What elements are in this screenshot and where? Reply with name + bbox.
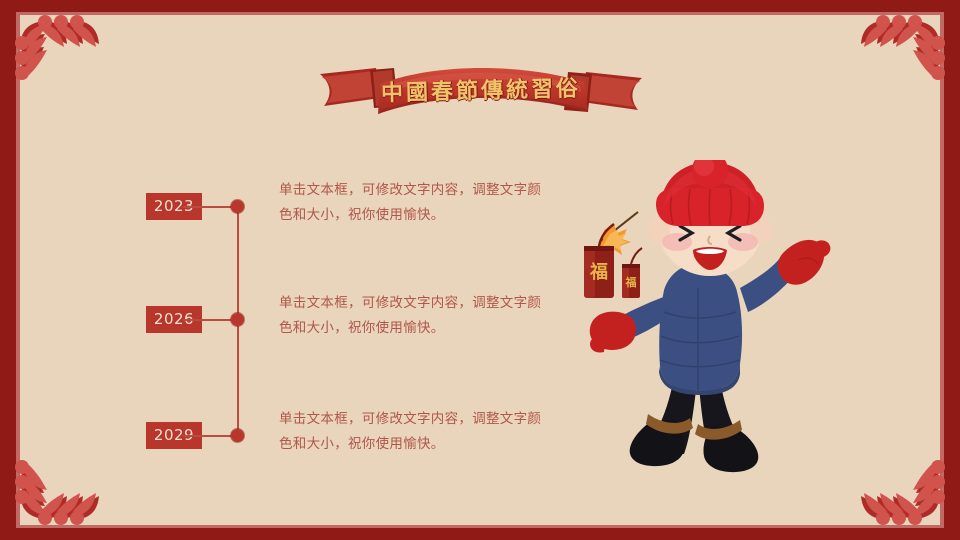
timeline-connector — [183, 319, 235, 321]
timeline-dot[interactable] — [231, 313, 244, 326]
slide-root: 中國春節傳統習俗 2023 单击文本框，可修改文字内容，调整文字颜色和大小，祝你… — [0, 0, 960, 540]
timeline-connector — [183, 206, 235, 208]
timeline-body-text[interactable]: 单击文本框，可修改文字内容，调整文字颜色和大小，祝你使用愉快。 — [279, 291, 554, 341]
timeline-connector — [183, 435, 235, 437]
timeline-item[interactable]: 2023 单击文本框，可修改文字内容，调整文字颜色和大小，祝你使用愉快。 — [0, 178, 560, 238]
child-with-firecrackers-illustration: 福 福 — [560, 160, 890, 490]
timeline-dot[interactable] — [231, 200, 244, 213]
timeline-item[interactable]: 2029 单击文本框，可修改文字内容，调整文字颜色和大小，祝你使用愉快。 — [0, 407, 560, 467]
timeline-body-text[interactable]: 单击文本框，可修改文字内容，调整文字颜色和大小，祝你使用愉快。 — [279, 407, 554, 457]
title-banner: 中國春節傳統習俗 — [318, 56, 644, 124]
firecracker-group: 福 福 — [584, 212, 642, 298]
timeline-body-text[interactable]: 单击文本框，可修改文字内容，调整文字颜色和大小，祝你使用愉快。 — [279, 178, 554, 228]
timeline-item[interactable]: 2026 单击文本框，可修改文字内容，调整文字颜色和大小，祝你使用愉快。 — [0, 291, 560, 351]
timeline-dot[interactable] — [231, 429, 244, 442]
svg-text:福: 福 — [625, 275, 637, 289]
beanie-hat — [656, 160, 764, 226]
firecracker-fu-glyph: 福 — [589, 261, 608, 283]
